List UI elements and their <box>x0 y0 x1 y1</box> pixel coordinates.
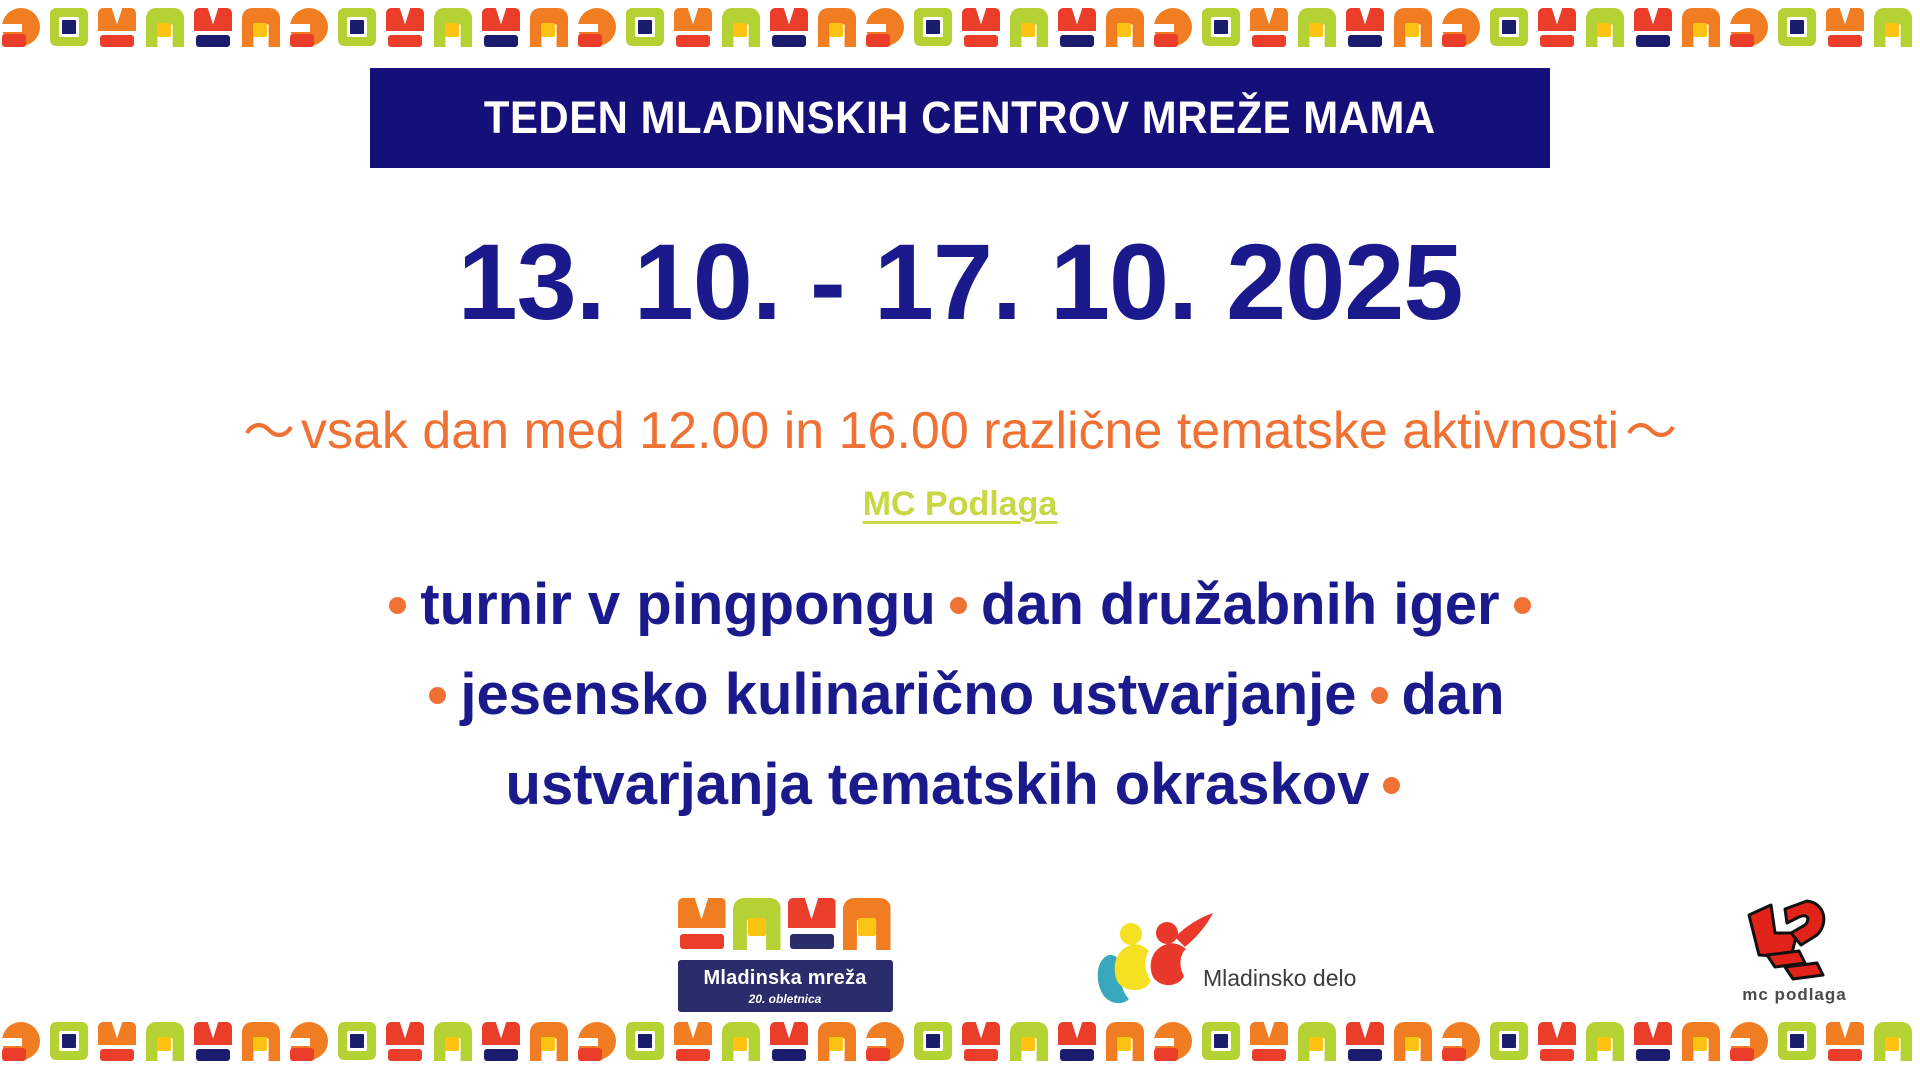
mama-glyph-a-icon <box>1296 1020 1338 1066</box>
mama-plate: Mladinska mreža 20. obletnica <box>678 960 893 1012</box>
mama-glyph-a-icon <box>1008 6 1050 52</box>
mama-glyph-m-icon <box>96 1020 138 1066</box>
wave-left-icon: 〜 <box>237 390 301 465</box>
mama-glyph-a-icon <box>720 6 762 52</box>
event-subtitle: 〜vsak dan med 12.00 in 16.00 različne te… <box>0 390 1920 465</box>
bullet-icon <box>1514 597 1531 614</box>
mama-glyph-m-icon <box>960 6 1002 52</box>
mama-glyph-a-icon <box>1584 1020 1626 1066</box>
activity-item: turnir v pingpongu <box>420 572 935 637</box>
mama-glyph-a-icon <box>1008 1020 1050 1066</box>
mama-glyph-a-icon <box>1392 6 1434 52</box>
mama-glyph-m-icon <box>576 1020 618 1066</box>
mama-glyph-m-icon <box>480 6 522 52</box>
activities-list: turnir v pingpongudan družabnih iger jes… <box>40 560 1880 830</box>
venue: MC Podlaga <box>0 485 1920 524</box>
decorative-strip-bottom <box>0 1020 1920 1074</box>
mama-glyph-m-icon <box>1440 1020 1482 1066</box>
mama-glyph-a-icon <box>624 1020 666 1066</box>
mama-glyph-a-icon <box>1488 1020 1530 1066</box>
mama-glyph-a-icon <box>240 1020 282 1066</box>
activity-line-3: ustvarjanja tematskih okraskov <box>40 740 1880 830</box>
logo-mama: Mladinska mreža 20. obletnica <box>660 898 910 1018</box>
mama-glyph-a-icon <box>1680 6 1722 52</box>
mama-glyph-a-icon <box>1392 1020 1434 1066</box>
mama-glyph-a-icon <box>432 1020 474 1066</box>
mama-glyph-m-icon <box>1344 1020 1386 1066</box>
mama-glyph-a-icon <box>528 6 570 52</box>
poster: TEDEN MLADINSKIH CENTROV MREŽE MAMA 13. … <box>0 0 1920 1080</box>
activity-item: dan <box>1402 662 1505 727</box>
activity-item: jesensko kulinarično ustvarjanje <box>460 662 1356 727</box>
mama-glyph-a-icon <box>48 1020 90 1066</box>
mc-podlaga-label: mc podlaga <box>1717 985 1872 1005</box>
mama-glyph-m-icon <box>1632 1020 1674 1066</box>
mama-glyph-a-icon <box>1296 6 1338 52</box>
mama-glyph-m-icon <box>480 1020 522 1066</box>
mama-glyph-a-icon <box>144 1020 186 1066</box>
mama-glyph-a-icon <box>720 1020 762 1066</box>
mama-glyph-m-icon <box>1632 6 1674 52</box>
mama-glyph-a-icon <box>336 1020 378 1066</box>
mama-glyph-m-icon <box>960 1020 1002 1066</box>
activity-item: dan družabnih iger <box>981 572 1500 637</box>
mama-plate-line1: Mladinska mreža <box>678 960 893 990</box>
mama-glyph-a-icon <box>1104 1020 1146 1066</box>
mama-glyph-a-icon <box>912 1020 954 1066</box>
logo-mladinsko-delo: Mladinsko delo <box>1085 907 1325 1012</box>
mama-glyph-m-icon <box>1152 6 1194 52</box>
mama-glyph-m-icon <box>1152 1020 1194 1066</box>
bullet-icon <box>1383 777 1400 794</box>
activity-item-cont: ustvarjanja tematskih okraskov <box>506 752 1370 817</box>
mama-glyph-m-icon <box>1728 1020 1770 1066</box>
mama-glyph-a-icon <box>816 1020 858 1066</box>
mama-glyph-m-icon <box>0 6 42 52</box>
mama-glyph-m-icon <box>768 6 810 52</box>
mladinsko-delo-figures-icon <box>1091 907 1216 1007</box>
mama-glyph-m-icon <box>96 6 138 52</box>
activity-line-1: turnir v pingpongudan družabnih iger <box>40 560 1880 650</box>
mama-letter-m1-icon <box>678 898 726 950</box>
mama-glyph-a-icon <box>816 6 858 52</box>
mama-glyph-m-icon <box>1824 1020 1866 1066</box>
mama-glyph-m-icon <box>1440 6 1482 52</box>
wave-right-icon: 〜 <box>1619 390 1683 465</box>
bullet-icon <box>950 597 967 614</box>
mama-glyph-m-icon <box>288 6 330 52</box>
logo-mc-podlaga: mc podlaga <box>1717 893 1872 1018</box>
bullet-icon <box>1371 687 1388 704</box>
mama-glyph-a-icon <box>1776 1020 1818 1066</box>
banner-title-text: TEDEN MLADINSKIH CENTROV MREŽE MAMA <box>484 92 1436 144</box>
mama-glyph-m-icon <box>1248 1020 1290 1066</box>
activity-line-2: jesensko kulinarično ustvarjanjedan <box>40 650 1880 740</box>
mama-glyph-a-icon <box>1104 6 1146 52</box>
mama-glyph-m-icon <box>1728 6 1770 52</box>
subtitle-text: vsak dan med 12.00 in 16.00 različne tem… <box>301 402 1619 460</box>
mama-glyph-m-icon <box>1248 6 1290 52</box>
venue-name: MC Podlaga <box>863 485 1058 523</box>
mc-podlaga-mark-icon <box>1725 893 1865 985</box>
decorative-strip-top <box>0 6 1920 60</box>
mama-glyph-a-icon <box>912 6 954 52</box>
event-date: 13. 10. - 17. 10. 2025 <box>0 225 1920 338</box>
mama-letters-mark <box>678 898 893 954</box>
mama-glyph-m-icon <box>384 1020 426 1066</box>
mama-glyph-m-icon <box>384 6 426 52</box>
mama-glyph-m-icon <box>192 1020 234 1066</box>
mama-plate-line2: 20. obletnica <box>678 992 893 1006</box>
mama-glyph-m-icon <box>1824 6 1866 52</box>
mama-glyph-a-icon <box>1200 1020 1242 1066</box>
mama-glyph-m-icon <box>0 1020 42 1066</box>
mama-glyph-m-icon <box>864 6 906 52</box>
mama-letter-m2-icon <box>788 898 836 950</box>
mama-glyph-m-icon <box>1536 6 1578 52</box>
mama-glyph-a-icon <box>48 6 90 52</box>
mama-glyph-a-icon <box>1584 6 1626 52</box>
mladinsko-delo-label: Mladinsko delo <box>1203 965 1356 992</box>
mama-glyph-m-icon <box>768 1020 810 1066</box>
mama-glyph-a-icon <box>624 6 666 52</box>
mama-glyph-m-icon <box>192 6 234 52</box>
mama-glyph-a-icon <box>1488 6 1530 52</box>
mama-glyph-m-icon <box>1056 1020 1098 1066</box>
mama-glyph-a-icon <box>1200 6 1242 52</box>
mama-glyph-a-icon <box>1680 1020 1722 1066</box>
mama-glyph-m-icon <box>1536 1020 1578 1066</box>
mama-glyph-m-icon <box>1344 6 1386 52</box>
mama-letter-a1-icon <box>733 898 781 950</box>
mama-glyph-a-icon <box>336 6 378 52</box>
logo-row: Mladinska mreža 20. obletnica Ml <box>0 892 1920 1022</box>
bullet-icon <box>429 687 446 704</box>
title-banner: TEDEN MLADINSKIH CENTROV MREŽE MAMA <box>370 68 1550 168</box>
bullet-icon <box>389 597 406 614</box>
mama-glyph-m-icon <box>288 1020 330 1066</box>
mama-glyph-a-icon <box>1872 6 1914 52</box>
mama-glyph-m-icon <box>672 6 714 52</box>
mama-glyph-a-icon <box>528 1020 570 1066</box>
mama-glyph-m-icon <box>1056 6 1098 52</box>
mama-glyph-a-icon <box>1776 6 1818 52</box>
mama-letter-a2-icon <box>843 898 891 950</box>
mama-glyph-a-icon <box>144 6 186 52</box>
mama-glyph-a-icon <box>432 6 474 52</box>
mama-glyph-a-icon <box>240 6 282 52</box>
mama-glyph-m-icon <box>576 6 618 52</box>
mama-glyph-a-icon <box>1872 1020 1914 1066</box>
mama-glyph-m-icon <box>672 1020 714 1066</box>
mama-glyph-m-icon <box>864 1020 906 1066</box>
